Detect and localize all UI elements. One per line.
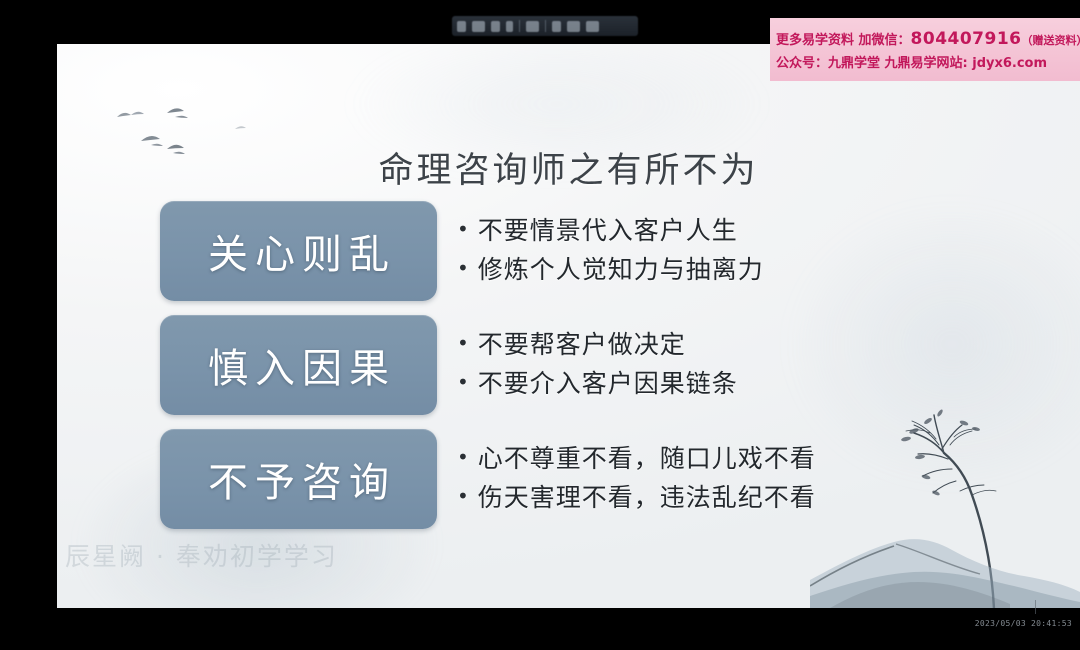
row-label-box-2: 慎入因果 xyxy=(160,315,437,415)
recording-timestamp: 2023/05/03 20:41:53 xyxy=(975,619,1072,628)
video-player-stage: 命理咨询师之有所不为 关心则乱 • 不要情景代入客户人生 • 修炼个人觉知力与抽… xyxy=(0,0,1080,650)
content-rows: 关心则乱 • 不要情景代入客户人生 • 修炼个人觉知力与抽离力 慎入因果 xyxy=(160,194,960,536)
bullet-text: 不要介入客户因果链条 xyxy=(478,365,738,404)
bullet-text: 心不尊重不看，随口儿戏不看 xyxy=(478,440,816,479)
toolbar-icon-1[interactable] xyxy=(457,21,466,32)
content-row: 慎入因果 • 不要帮客户做决定 • 不要介入客户因果链条 xyxy=(160,308,960,422)
page-title: 命理咨询师之有所不为 xyxy=(57,142,1080,193)
promo-watermark-overlay: 更多易学资料 加微信：804407916（赠送资料） 公众号：九鼎学堂 九鼎易学… xyxy=(770,18,1080,81)
bullet-dot-icon: • xyxy=(457,372,470,392)
row-label-box-1: 关心则乱 xyxy=(160,201,437,301)
toolbar-icon-2[interactable] xyxy=(472,21,485,32)
bullet-dot-icon: • xyxy=(457,258,470,278)
row-bullets-1: • 不要情景代入客户人生 • 修炼个人觉知力与抽离力 xyxy=(457,212,960,290)
bullet-text: 不要情景代入客户人生 xyxy=(478,212,738,251)
row-label-text: 不予咨询 xyxy=(201,450,396,508)
video-control-toolbar[interactable] xyxy=(452,16,638,36)
row-bullets-2: • 不要帮客户做决定 • 不要介入客户因果链条 xyxy=(457,326,960,404)
timestamp-tick xyxy=(1035,600,1036,614)
promo-line-1-prefix: 更多易学资料 加微信： xyxy=(776,33,911,48)
toolbar-icon-5[interactable] xyxy=(526,21,539,32)
promo-line-1-suffix: （赠送资料） xyxy=(1022,34,1080,47)
bullet-dot-icon: • xyxy=(457,219,470,239)
bullet-text: 伤天害理不看，违法乱纪不看 xyxy=(478,479,816,518)
presentation-slide: 命理咨询师之有所不为 关心则乱 • 不要情景代入客户人生 • 修炼个人觉知力与抽… xyxy=(57,44,1080,608)
bullet-text: 不要帮客户做决定 xyxy=(478,326,686,365)
bullet-dot-icon: • xyxy=(457,447,470,467)
bullet-item: • 不要帮客户做决定 xyxy=(457,326,960,365)
ink-mountain-decoration xyxy=(810,488,1080,608)
toolbar-divider xyxy=(545,20,546,32)
toolbar-icon-8[interactable] xyxy=(586,21,599,32)
toolbar-icon-4[interactable] xyxy=(506,21,513,32)
row-label-box-3: 不予咨询 xyxy=(160,429,437,529)
content-row: 关心则乱 • 不要情景代入客户人生 • 修炼个人觉知力与抽离力 xyxy=(160,194,960,308)
promo-line-2: 公众号：九鼎学堂 九鼎易学网站: jdyx6.com xyxy=(776,52,1074,71)
bullet-dot-icon: • xyxy=(457,486,470,506)
slide-footer-watermark: 辰星阙 · 奉劝初学学习 xyxy=(65,537,338,573)
toolbar-divider xyxy=(519,20,520,32)
row-label-text: 关心则乱 xyxy=(201,222,396,280)
toolbar-icon-6[interactable] xyxy=(552,21,561,32)
toolbar-icon-3[interactable] xyxy=(491,21,500,32)
bullet-dot-icon: • xyxy=(457,333,470,353)
promo-line-1: 更多易学资料 加微信：804407916（赠送资料） xyxy=(776,29,1074,49)
bullet-item: • 不要情景代入客户人生 xyxy=(457,212,960,251)
row-label-text: 慎入因果 xyxy=(201,336,396,394)
bullet-item: • 修炼个人觉知力与抽离力 xyxy=(457,251,960,290)
bullet-text: 修炼个人觉知力与抽离力 xyxy=(478,251,764,290)
bullet-item: • 不要介入客户因果链条 xyxy=(457,365,960,404)
toolbar-icon-7[interactable] xyxy=(567,21,580,32)
promo-wechat-number: 804407916 xyxy=(911,29,1022,49)
